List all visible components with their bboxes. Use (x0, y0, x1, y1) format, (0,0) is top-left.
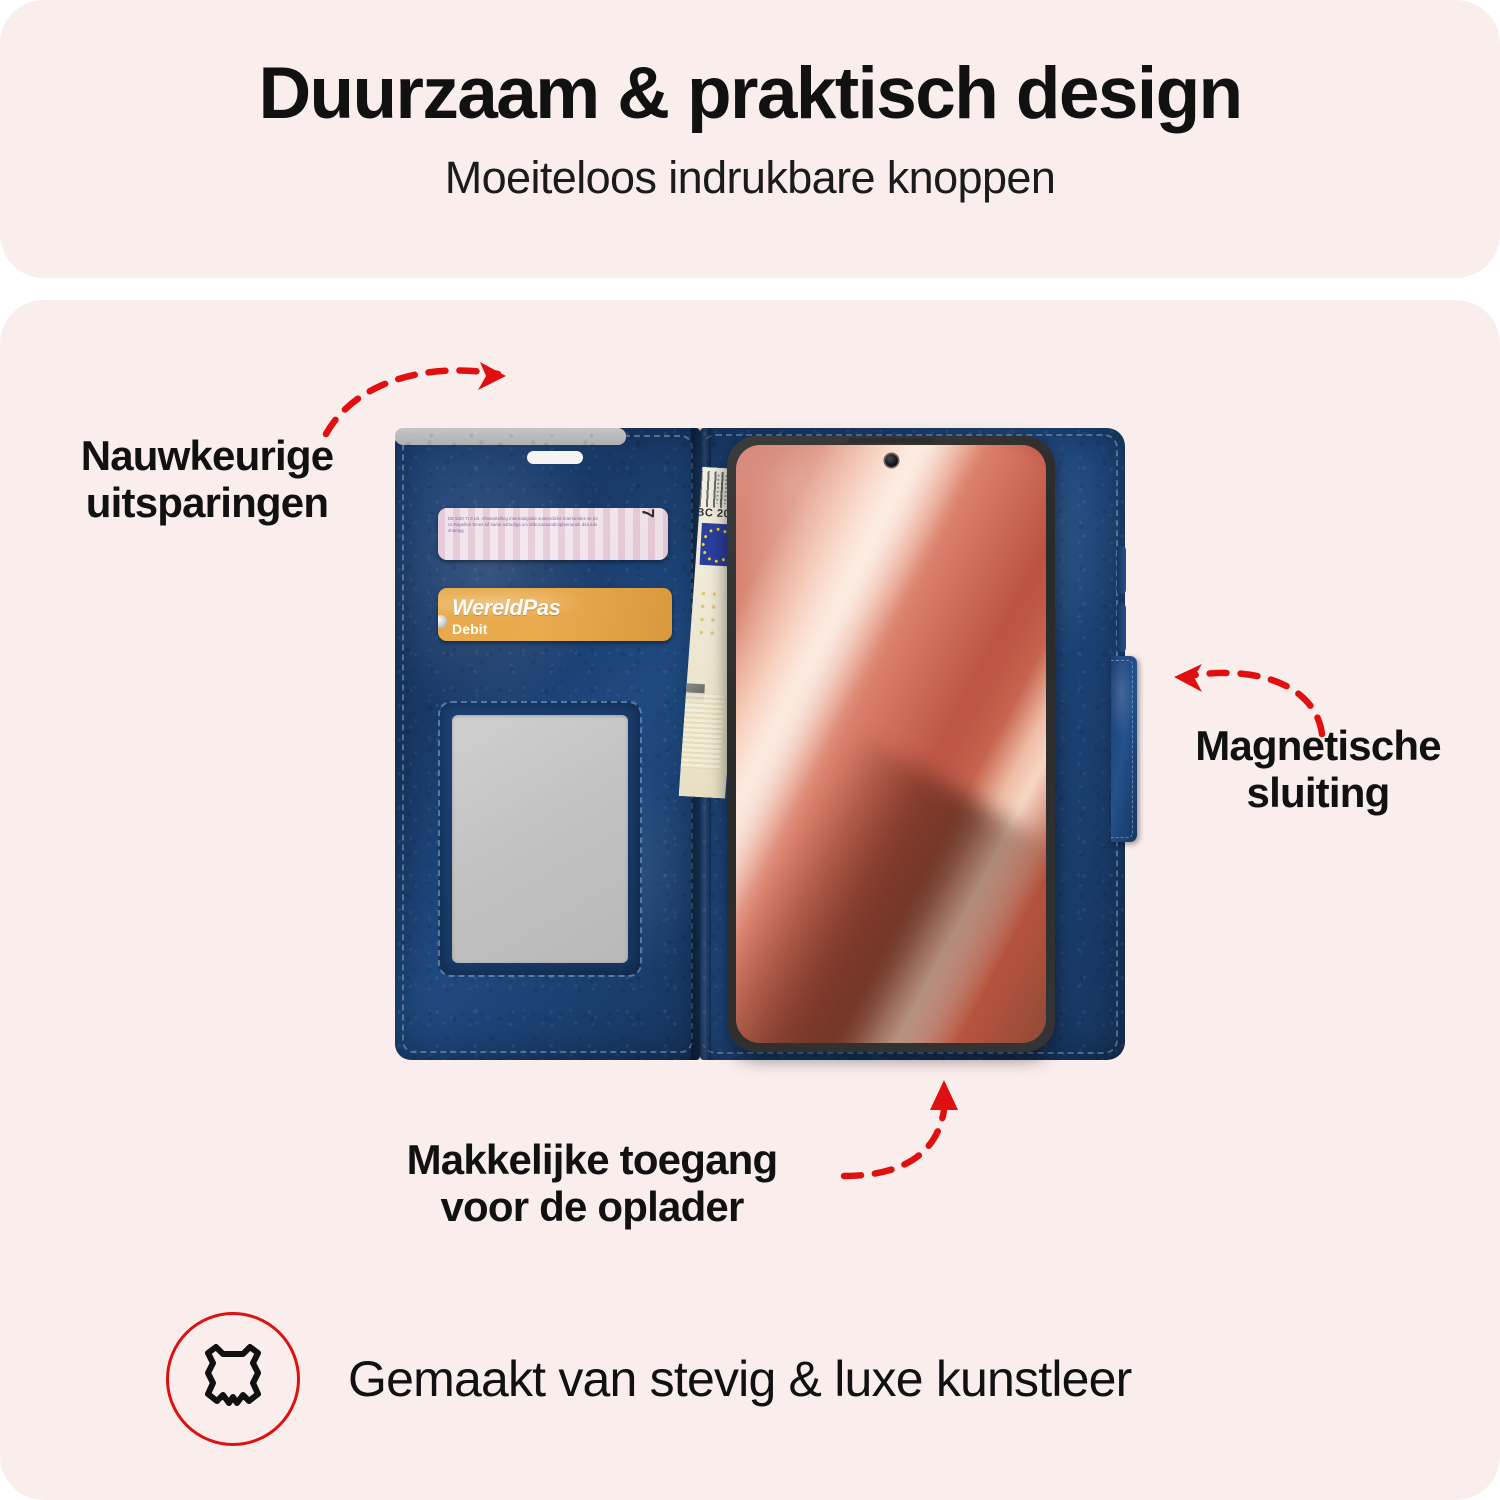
product-illustration: DE 5/20 TI 0 LB. Afmanstelling intermati… (395, 428, 1125, 1060)
arrow-charger-icon (840, 1080, 980, 1190)
callout-cutouts: Nauwkeurige uitsparingen (42, 432, 372, 526)
phone-front-camera-icon (885, 454, 898, 467)
bank-card-name: WereldPas (452, 595, 561, 621)
arrow-magnetic-icon (1150, 662, 1330, 742)
magnetic-closure-flap[interactable] (1111, 656, 1137, 842)
callout-charger-line2: voor de oplader (352, 1183, 832, 1230)
empty-card-slot (395, 428, 626, 445)
bank-card-chip-icon (438, 615, 447, 628)
bank-card-type: Debit (452, 621, 488, 637)
callout-magnetic-line2: sluiting (1158, 769, 1478, 816)
callout-charger-line1: Makkelijke toegang (352, 1136, 832, 1183)
id-window-pane (452, 715, 628, 963)
banknote-strip (680, 692, 724, 770)
id-window-pocket (438, 701, 642, 977)
phone-device (727, 436, 1055, 1052)
case-wallet-cover: DE 5/20 TI 0 LB. Afmanstelling intermati… (395, 428, 700, 1060)
material-label: Gemaakt van stevig & luxe kunstleer (348, 1350, 1132, 1408)
phone-earpiece (848, 438, 934, 443)
id-card-number: 797 (637, 508, 657, 519)
leather-hide-glyph (196, 1339, 270, 1419)
callout-cutouts-line2: uitsparingen (42, 479, 372, 526)
banknote-security-dots (696, 587, 725, 636)
leather-hide-icon (166, 1312, 300, 1446)
volume-up-button-cutout[interactable] (1117, 546, 1126, 594)
page-title: Duurzaam & praktisch design (0, 56, 1500, 133)
bank-card: WereldPas Debit (438, 588, 672, 641)
id-card-microtext: DE 5/20 TI 0 LB. Afmanstelling intermati… (448, 516, 598, 534)
id-card: DE 5/20 TI 0 LB. Afmanstelling intermati… (438, 508, 668, 560)
volume-down-button-cutout[interactable] (1117, 604, 1126, 652)
top-cutout-slot (527, 451, 583, 464)
header-card: Duurzaam & praktisch design Moeiteloos i… (0, 0, 1500, 278)
phone-screen (736, 445, 1046, 1043)
page-subtitle: Moeiteloos indrukbare knoppen (0, 152, 1500, 204)
material-badge: Gemaakt van stevig & luxe kunstleer (166, 1312, 1132, 1446)
callout-charger: Makkelijke toegang voor de oplader (352, 1136, 832, 1230)
